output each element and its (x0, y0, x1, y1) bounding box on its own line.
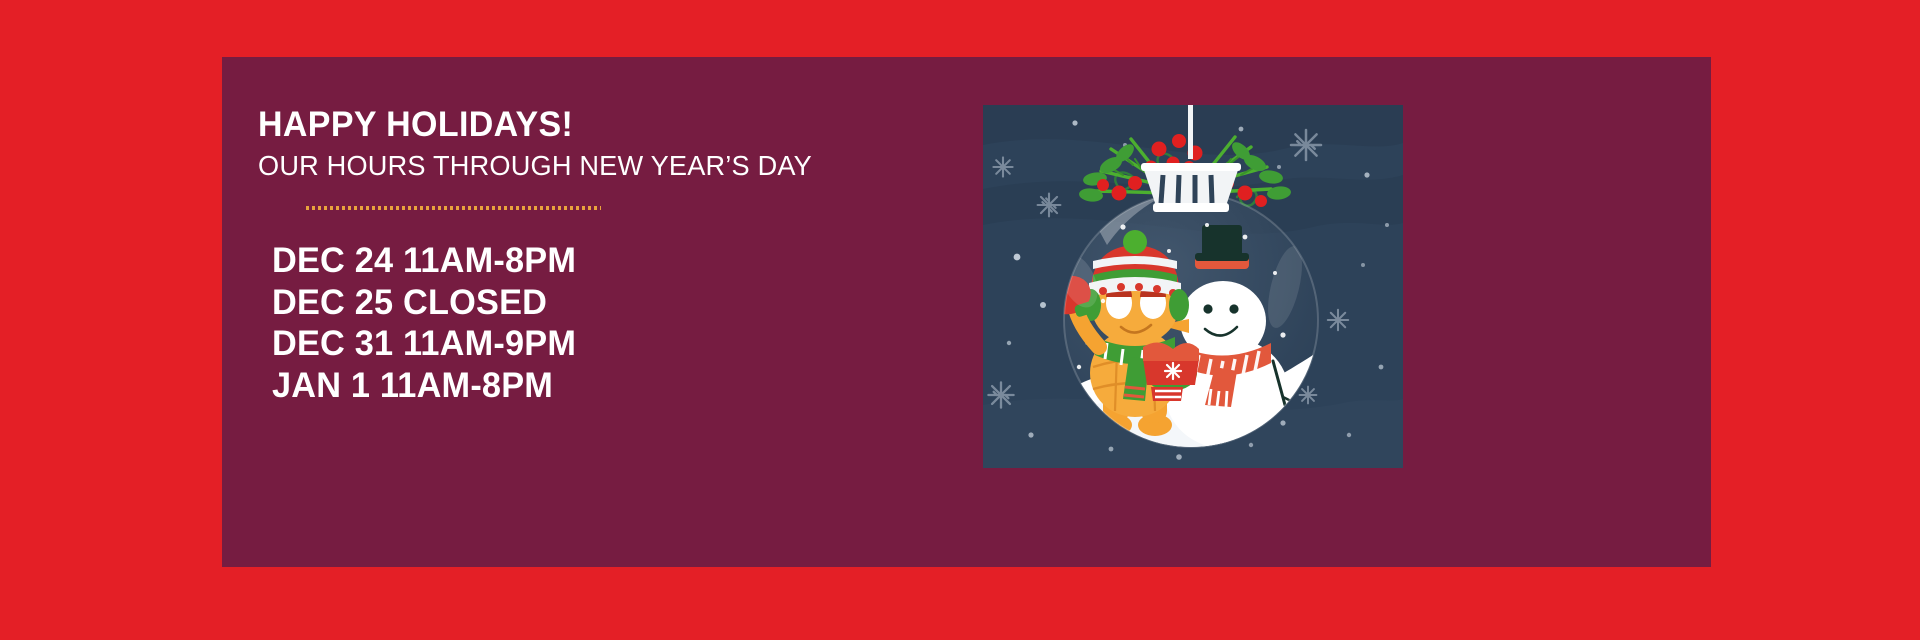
globe-hanger (1188, 105, 1193, 159)
list-item: JAN 1 11AM-8PM (272, 365, 944, 407)
snow-globe-graphic (983, 105, 1403, 468)
globe-cap (1141, 163, 1241, 212)
holiday-hours-banner: HAPPY HOLIDAYS! OUR HOURS THROUGH NEW YE… (0, 0, 1920, 640)
snow-globe-illustration (983, 105, 1403, 468)
text-column: HAPPY HOLIDAYS! OUR HOURS THROUGH NEW YE… (258, 107, 958, 407)
hat-pompom (1123, 230, 1147, 254)
list-item: DEC 31 11AM-9PM (272, 323, 944, 365)
page-title: HAPPY HOLIDAYS! (258, 107, 937, 142)
list-item: DEC 24 11AM-8PM (272, 240, 944, 282)
dotted-divider (306, 206, 601, 210)
content-panel: HAPPY HOLIDAYS! OUR HOURS THROUGH NEW YE… (222, 57, 1711, 567)
page-subtitle: OUR HOURS THROUGH NEW YEAR’S DAY (258, 152, 937, 180)
snowflake-icon (1165, 363, 1181, 379)
list-item: DEC 25 CLOSED (272, 282, 944, 324)
hours-list: DEC 24 11AM-8PM DEC 25 CLOSED DEC 31 11A… (272, 240, 958, 407)
